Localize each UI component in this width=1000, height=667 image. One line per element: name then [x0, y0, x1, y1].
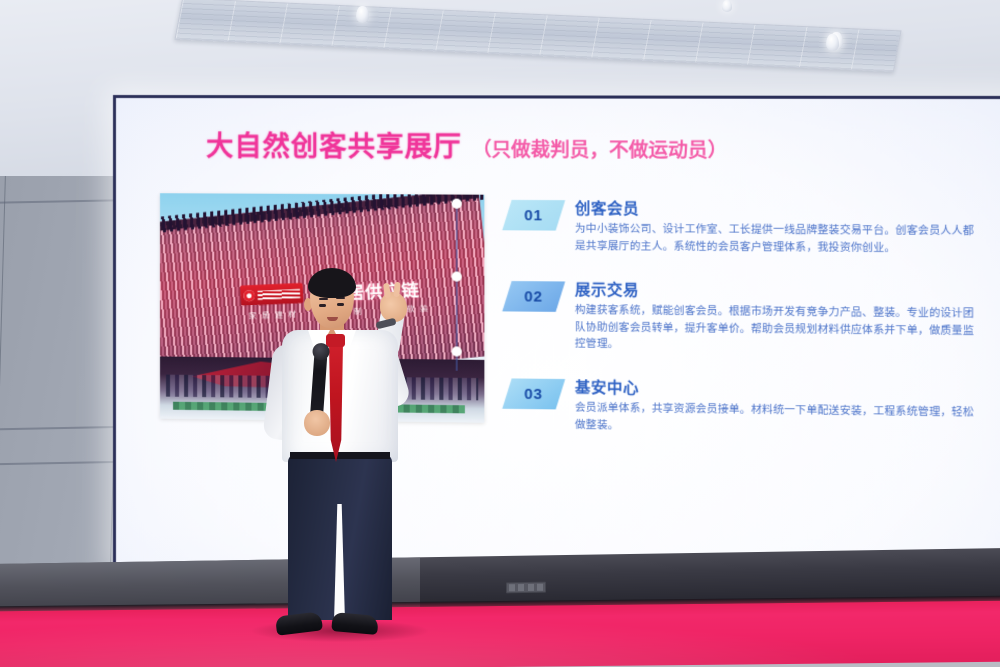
- slide-bullet-list: 01 创客会员 为中小装饰公司、设计工作室、工长提供一线品牌整装交易平台。创客会…: [507, 195, 981, 463]
- slide-title-main: 大自然创客共享展厅: [206, 124, 462, 164]
- presenter-shoe: [331, 612, 378, 635]
- bullet-text-block: 创客会员 为中小装饰公司、设计工作室、工长提供一线品牌整装交易平台。创客会员人人…: [575, 197, 981, 258]
- bullet-number: 02: [525, 287, 543, 304]
- bullet-body: 构建获客系统，赋能创客会员。根据市场开发有竞争力产品、整装。专业的设计团队协助创…: [575, 303, 981, 359]
- spotlight: [826, 34, 839, 51]
- red-carpet-floor: [0, 601, 1000, 667]
- photo-dot-connector: [456, 199, 458, 371]
- bullet-number: 03: [525, 385, 543, 402]
- bullet-heading: 创客会员: [575, 197, 981, 221]
- presenter-eye: [337, 303, 344, 306]
- bullet-heading: 基安中心: [575, 376, 981, 402]
- scene-photograph: 大自然创客共享展厅 （只做裁判员，不做运动员） 大家居供应链: [0, 0, 1000, 667]
- bullet-heading: 展示交易: [575, 278, 981, 303]
- spotlight: [722, 0, 732, 12]
- presenter-right-hand: [304, 410, 330, 436]
- wall-power-socket[interactable]: [506, 582, 546, 594]
- bullet-number: 01: [525, 207, 543, 224]
- presenter-belt: [290, 452, 390, 459]
- presenter-hair: [308, 268, 356, 298]
- bullet-body: 为中小装饰公司、设计工作室、工长提供一线品牌整装交易平台。创客会员人人都是共享展…: [575, 222, 981, 259]
- list-item: 03 基安中心 会员派单体系，共享资源会员接单。材料统一下单配送安装，工程系统管…: [507, 376, 981, 441]
- slide-title-sub: （只做裁判员，不做运动员）: [472, 135, 727, 163]
- bullet-number-badge: 01: [502, 200, 565, 231]
- slide-title: 大自然创客共享展厅 （只做裁判员，不做运动员）: [160, 124, 981, 166]
- bullet-text-block: 展示交易 构建获客系统，赋能创客会员。根据市场开发有竞争力产品、整装。专业的设计…: [575, 278, 981, 358]
- presenter-eye: [319, 304, 326, 307]
- bullet-number-badge: 03: [502, 379, 565, 410]
- presenter-shoe: [275, 611, 323, 635]
- bullet-text-block: 基安中心 会员派单体系，共享资源会员接单。材料统一下单配送安装，工程系统管理，轻…: [575, 376, 981, 440]
- presenter: [246, 268, 436, 667]
- list-item: 02 展示交易 构建获客系统，赋能创客会员。根据市场开发有竞争力产品、整装。专业…: [507, 278, 981, 358]
- presenter-tie-knot: [326, 334, 345, 347]
- presenter-brow: [319, 298, 328, 300]
- bullet-body: 会员派单体系，共享资源会员接单。材料统一下单配送安装，工程系统管理，轻松做整装。: [575, 401, 981, 441]
- list-item: 01 创客会员 为中小装饰公司、设计工作室、工长提供一线品牌整装交易平台。创客会…: [507, 197, 981, 259]
- ceiling-vent-panel: [174, 0, 901, 72]
- spotlight: [356, 6, 369, 23]
- bullet-number-badge: 02: [502, 281, 565, 312]
- presenter-mouth: [327, 317, 338, 321]
